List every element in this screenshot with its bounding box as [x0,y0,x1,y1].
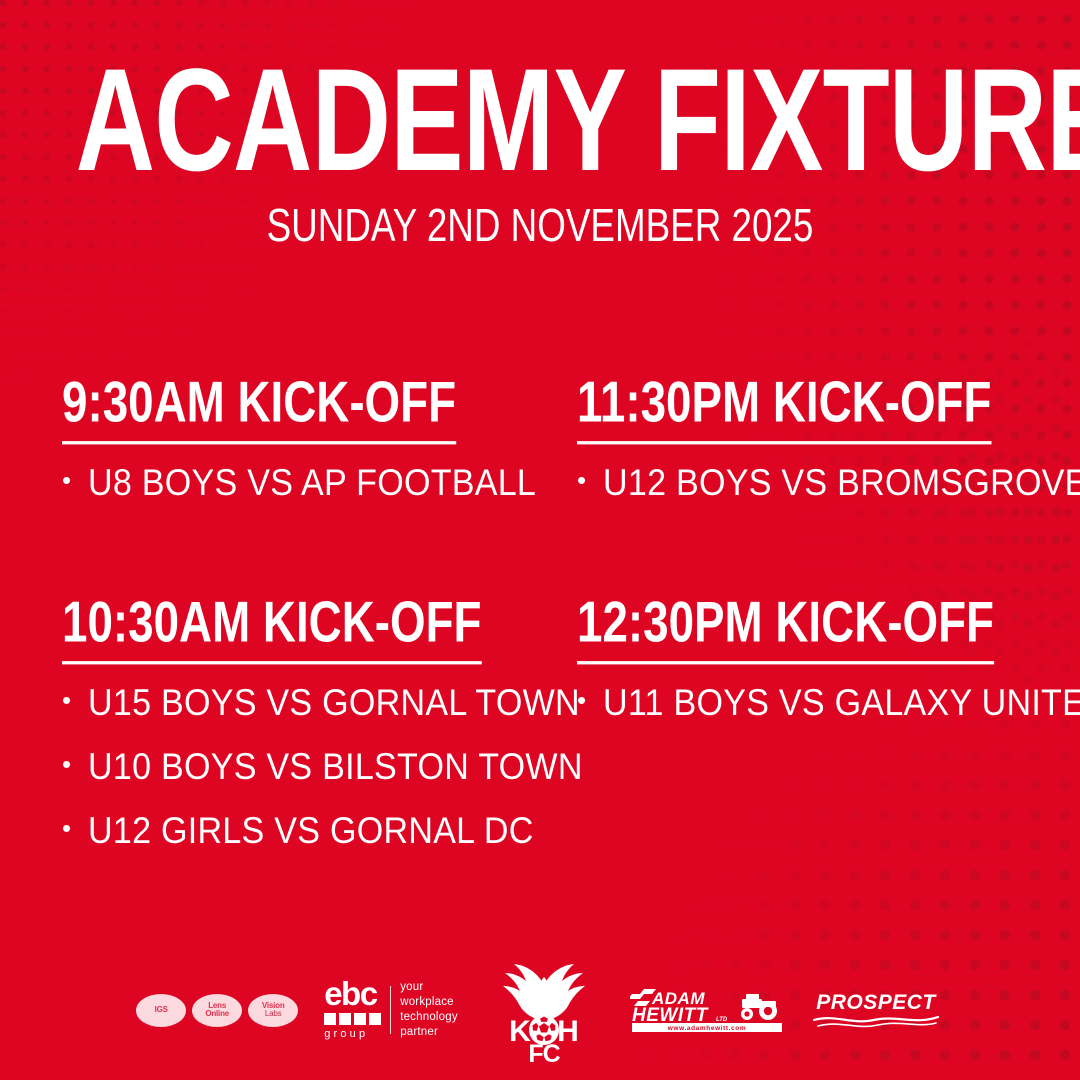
match-list: • U11 BOYS VS GALAXY UNITED [577,684,1080,723]
match-label: U8 BOYS VS AP FOOTBALL [88,464,536,503]
tractor-icon [741,994,777,1020]
ebc-mark: ebc group [324,980,381,1039]
ebc-tagline-line: partner [400,1025,458,1040]
match-list: • U12 BOYS VS BROMSGROVE [577,464,1080,503]
partner-oval-lens-online: Lens Online [192,994,242,1027]
ebc-group-label: group [324,1028,368,1040]
bullet-icon: • [62,815,88,841]
partner-oval-label-2: Online [205,1010,229,1018]
prospect-wordmark: PROSPECT [816,991,937,1014]
match-label: U12 GIRLS VS GORNAL DC [88,812,534,851]
match-label: U11 BOYS VS GALAXY UNITED [603,684,1080,723]
ebc-wordmark: ebc [324,980,376,1008]
partner-oval-igs: IGS [136,994,186,1027]
sponsor-logo-adam-hewitt: ADAM HEWITT LTD www.adamhewitt.com [630,987,788,1033]
prospect-wave-icon [814,1017,938,1026]
list-item: • U12 GIRLS VS GORNAL DC [62,812,567,851]
kickoff-slot-0930: 9:30AM KICK-OFF • U8 BOYS VS AP FOOTBALL [62,374,567,528]
fixtures-column-left: 9:30AM KICK-OFF • U8 BOYS VS AP FOOTBALL… [62,374,567,899]
kickoff-heading: 9:30AM KICK-OFF [62,374,456,444]
match-label: U15 BOYS VS GORNAL TOWN [88,684,580,723]
sponsor-bar: IGS Lens Online Vision Labs ebc group [0,940,1080,1080]
kickoff-slot-1030: 10:30AM KICK-OFF • U15 BOYS VS GORNAL TO… [62,594,567,876]
bullet-icon: • [62,467,88,493]
sponsor-logo-ebc-group: ebc group your workplace technology part… [324,980,458,1041]
ebc-tagline: your workplace technology partner [400,980,458,1041]
partner-ovals: IGS Lens Online Vision Labs [136,994,298,1027]
ebc-squares-icon [324,1013,381,1025]
bullet-icon: • [62,751,88,777]
divider [390,986,391,1034]
kickoff-heading: 12:30PM KICK-OFF [577,594,994,664]
hewitt-website: www.adamhewitt.com [667,1025,746,1032]
partner-oval-visionlabs: Vision Labs [248,994,298,1027]
match-label: U12 BOYS VS BROMSGROVE [603,464,1080,503]
partner-oval-label: IGS [155,1006,168,1014]
ebc-tagline-line: workplace [400,995,458,1010]
academy-fixtures-poster: ACADEMY FIXTURES SUNDAY 2ND NOVEMBER 202… [0,0,1080,1080]
bullet-icon: • [577,687,603,713]
ebc-tagline-line: your [400,980,458,995]
kickoff-slot-1130: 11:30PM KICK-OFF • U12 BOYS VS BROMSGROV… [577,374,1080,528]
bullet-icon: • [62,687,88,713]
kickoff-slot-1230: 12:30PM KICK-OFF • U11 BOYS VS GALAXY UN… [577,594,1080,748]
match-label: U10 BOYS VS BILSTON TOWN [88,748,583,787]
ebc-tagline-line: technology [400,1010,458,1025]
hewitt-suffix: LTD [716,1017,728,1023]
kickoff-heading: 11:30PM KICK-OFF [577,374,991,444]
match-list: • U8 BOYS VS AP FOOTBALL [62,464,567,503]
list-item: • U10 BOYS VS BILSTON TOWN [62,748,567,787]
list-item: • U15 BOYS VS GORNAL TOWN [62,684,567,723]
crest-letters-fc: FC [528,1040,560,1065]
list-item: • U11 BOYS VS GALAXY UNITED [577,684,1080,723]
poster-header: ACADEMY FIXTURES SUNDAY 2ND NOVEMBER 202… [0,0,1080,248]
page-title: ACADEMY FIXTURES [76,48,1005,194]
sponsor-logo-prospect: PROSPECT [808,987,944,1033]
kickoff-heading: 10:30AM KICK-OFF [62,594,482,664]
fixtures-grid: 9:30AM KICK-OFF • U8 BOYS VS AP FOOTBALL… [0,374,1080,899]
hewitt-line2: HEWITT [632,1005,709,1026]
crest-letter-h: H [557,1015,579,1048]
list-item: • U8 BOYS VS AP FOOTBALL [62,464,567,503]
bullet-icon: • [577,467,603,493]
fixtures-column-right: 11:30PM KICK-OFF • U12 BOYS VS BROMSGROV… [577,374,1080,899]
partner-oval-label-2: Labs [265,1010,282,1018]
match-list: • U15 BOYS VS GORNAL TOWN • U10 BOYS VS … [62,684,567,851]
club-crest-icon: K H FC [498,955,590,1065]
list-item: • U12 BOYS VS BROMSGROVE [577,464,1080,503]
poster-date: SUNDAY 2ND NOVEMBER 2025 [108,202,972,248]
